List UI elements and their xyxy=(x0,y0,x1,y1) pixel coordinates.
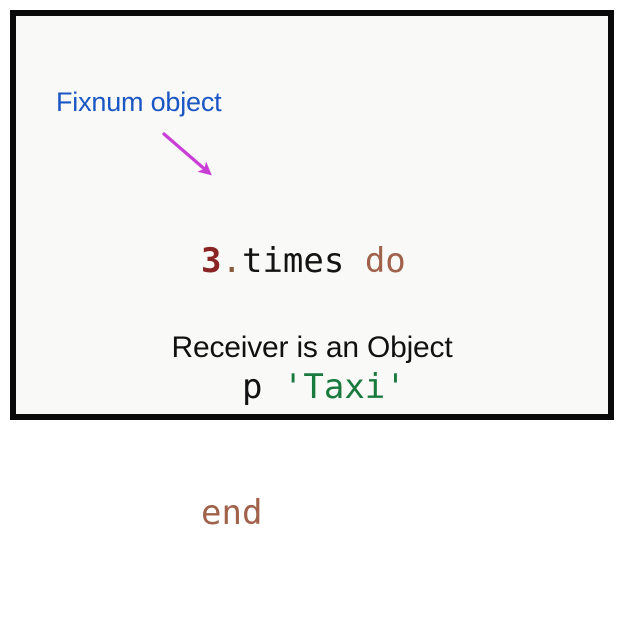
code-token-dot: . xyxy=(221,241,241,281)
code-line-2: p 'Taxi' xyxy=(201,366,406,408)
code-token-ident-p: p xyxy=(242,367,262,407)
annotation-label-fixnum-object: Fixnum object xyxy=(56,88,221,116)
code-token-method: times xyxy=(242,241,344,281)
code-token-string-taxi: 'Taxi' xyxy=(283,367,406,407)
code-token-indent xyxy=(201,367,242,407)
code-block: 3.times do p 'Taxi' end xyxy=(201,156,406,618)
code-token-space-1 xyxy=(344,241,364,281)
slide-frame: Fixnum object 3.times do p 'Taxi' end Re… xyxy=(10,10,614,420)
code-token-keyword-end: end xyxy=(201,493,262,533)
code-line-3: end xyxy=(201,492,406,534)
code-token-keyword-do: do xyxy=(365,241,406,281)
slide-caption: Receiver is an Object xyxy=(16,331,608,365)
slide-canvas: Fixnum object 3.times do p 'Taxi' end Re… xyxy=(16,16,608,414)
code-token-receiver: 3 xyxy=(201,241,221,281)
code-line-1: 3.times do xyxy=(201,240,406,282)
code-token-space-2 xyxy=(262,367,282,407)
